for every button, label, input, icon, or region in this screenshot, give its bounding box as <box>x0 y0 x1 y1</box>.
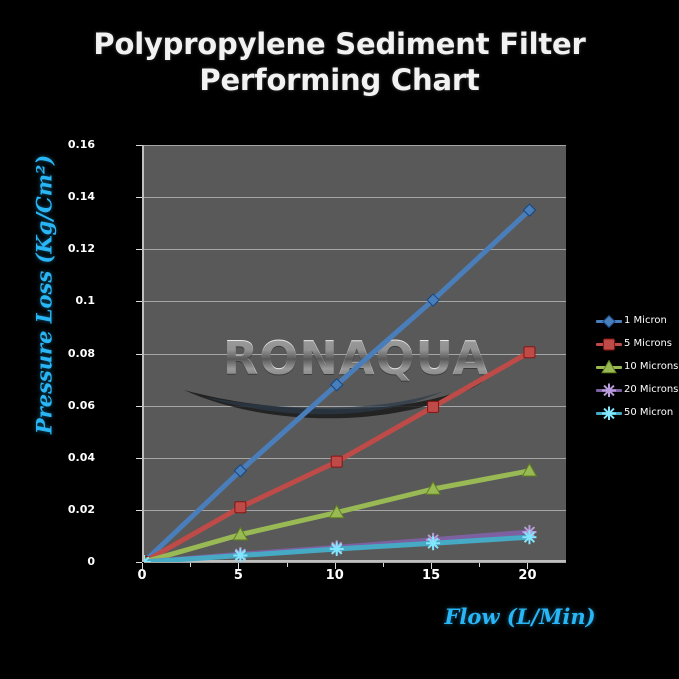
x-tick-label: 5 <box>216 568 260 583</box>
x-tick-mark <box>527 563 528 569</box>
x-tick-label: 0 <box>120 568 164 583</box>
data-point-marker-star <box>522 530 536 544</box>
legend-swatch-square-icon <box>596 337 622 351</box>
x-tick-mark <box>238 563 239 569</box>
y-tick-label: 0 <box>43 556 95 567</box>
chart-page: Polypropylene Sediment Filter Performing… <box>0 0 679 679</box>
chart-legend: 1 Micron5 Microns10 Microns20 Microns50 … <box>596 309 679 424</box>
gridline <box>144 562 566 563</box>
data-point-marker-diamond <box>603 315 615 327</box>
y-tick-label: 0.02 <box>43 504 95 515</box>
data-point-marker-star <box>602 406 616 420</box>
legend-swatch-triangle-icon <box>596 360 622 374</box>
series-plot <box>144 145 568 562</box>
legend-label: 1 Micron <box>624 315 667 327</box>
x-tick-label: 20 <box>505 568 549 583</box>
x-minor-tick-mark <box>383 563 384 567</box>
x-axis-title: Flow (L/Min) <box>380 604 660 629</box>
legend-swatch-star-icon <box>596 406 622 420</box>
legend-item-10-microns[interactable]: 10 Microns <box>596 355 679 378</box>
legend-label: 5 Microns <box>624 338 672 350</box>
x-tick-mark <box>142 563 143 569</box>
page-title: Polypropylene Sediment Filter Performing… <box>0 26 679 98</box>
data-point-marker-square <box>235 502 246 513</box>
data-point-marker-square <box>524 347 535 358</box>
data-point-marker-triangle <box>602 360 616 372</box>
legend-item-5-microns[interactable]: 5 Microns <box>596 332 679 355</box>
data-point-marker-star <box>602 383 616 397</box>
data-point-marker-square <box>331 456 342 467</box>
data-point-marker-star <box>426 536 440 550</box>
legend-item-50-micron[interactable]: 50 Micron <box>596 401 679 424</box>
legend-label: 50 Micron <box>624 407 673 419</box>
y-axis-title: Pressure Loss (Kg/Cm²) <box>32 125 57 465</box>
legend-swatch-star-icon <box>596 383 622 397</box>
data-point-marker-star <box>330 542 344 556</box>
data-point-marker-star <box>233 548 247 562</box>
x-tick-label: 15 <box>409 568 453 583</box>
legend-item-20-microns[interactable]: 20 Microns <box>596 378 679 401</box>
series-5-microns <box>144 347 535 562</box>
legend-swatch-diamond-icon <box>596 314 622 328</box>
plot-area: RONAQUA <box>142 145 566 562</box>
legend-label: 20 Microns <box>624 384 678 396</box>
x-tick-mark <box>335 563 336 569</box>
legend-item-1-micron[interactable]: 1 Micron <box>596 309 679 332</box>
data-point-marker-square <box>428 401 439 412</box>
x-minor-tick-mark <box>190 563 191 567</box>
data-point-marker-square <box>604 339 615 350</box>
x-minor-tick-mark <box>479 563 480 567</box>
legend-label: 10 Microns <box>624 361 678 373</box>
x-tick-label: 10 <box>313 568 357 583</box>
x-minor-tick-mark <box>287 563 288 567</box>
x-tick-mark <box>431 563 432 569</box>
